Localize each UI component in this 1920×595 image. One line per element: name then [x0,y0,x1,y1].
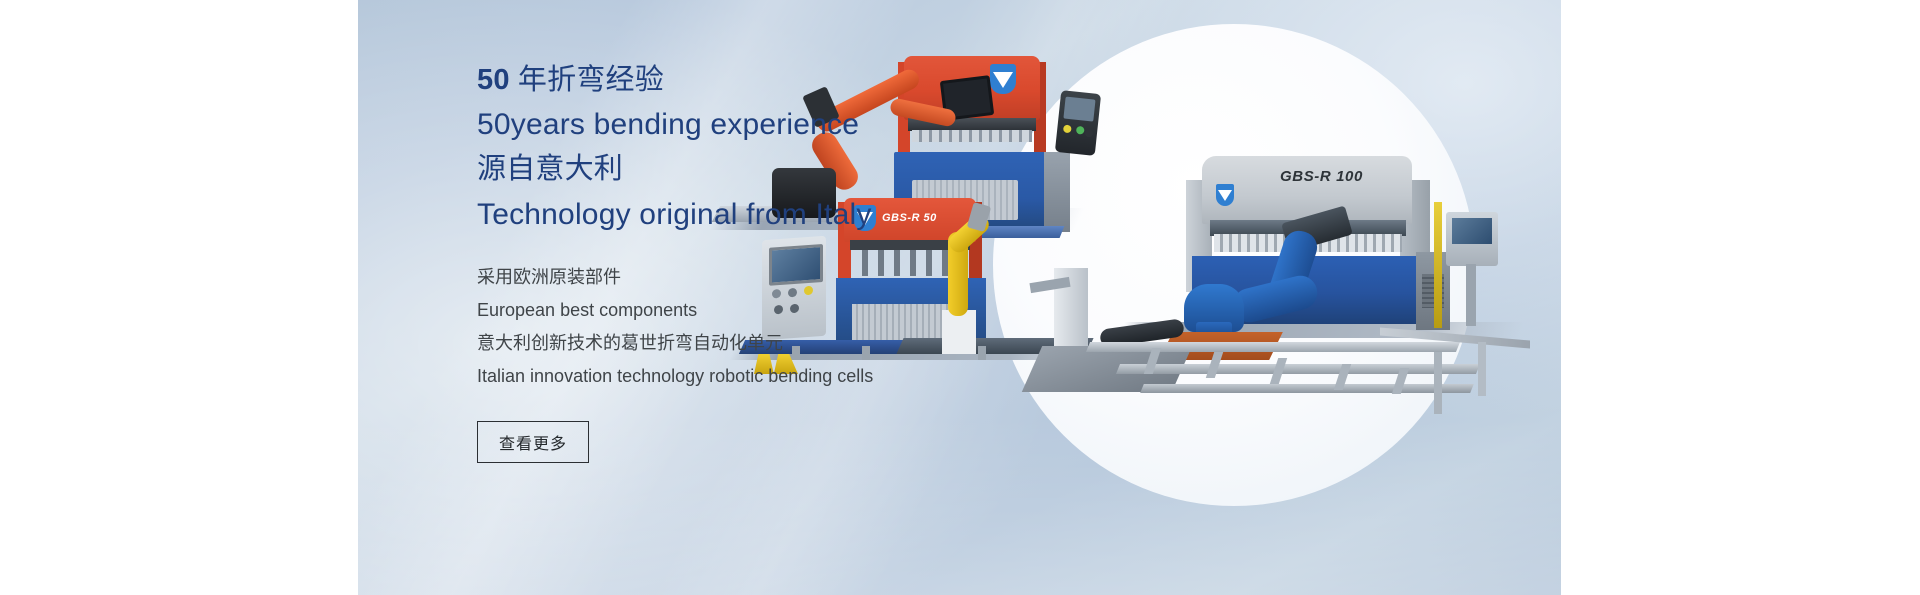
subtext-line-4: Italian innovation technology robotic be… [477,360,947,393]
headline-line-1-rest: 年折弯经验 [510,64,664,96]
lag-logo-icon [990,64,1016,94]
view-more-button[interactable]: 查看更多 [477,421,589,463]
machine-gbs-r-100: GBS-R 100 [1128,156,1548,406]
headline-line-4: Technology original from Italy [477,192,947,237]
safety-post [1434,202,1442,328]
conveyor-leg [1478,342,1486,396]
machine-model-label: GBS-R 100 [1280,168,1363,185]
hmi-panel [1446,212,1498,266]
hero-copy: 50 年折弯经验 50years bending experience 源自意大… [477,58,947,463]
page-root: GBS-R 50 [0,0,1920,595]
control-pendant [1055,90,1101,156]
hero-subtext: 采用欧洲原装部件 European best components 意大利创新技… [477,261,947,393]
conveyor-rail-1 [1086,342,1460,352]
headline-number: 50 [477,64,510,96]
conveyor-leg [1434,352,1442,414]
machine-foot [978,346,986,360]
headline-line-2: 50years bending experience [477,102,947,147]
subtext-line-1: 采用欧洲原装部件 [477,261,947,294]
conveyor-rail-2 [1116,364,1480,374]
part-manipulator-tower [1054,268,1088,354]
conveyor-rail-3 [1140,384,1474,393]
subtext-line-3: 意大利创新技术的葛世折弯自动化单元 [477,327,947,360]
robot-pedestal [942,310,976,354]
headline-line-1: 50 年折弯经验 [477,58,947,102]
hero-banner: GBS-R 50 [358,0,1561,595]
headline-line-3: 源自意大利 [477,147,947,192]
hmi-stand [1466,264,1476,326]
subtext-line-2: European best components [477,294,947,327]
lag-logo-icon [1216,184,1234,206]
